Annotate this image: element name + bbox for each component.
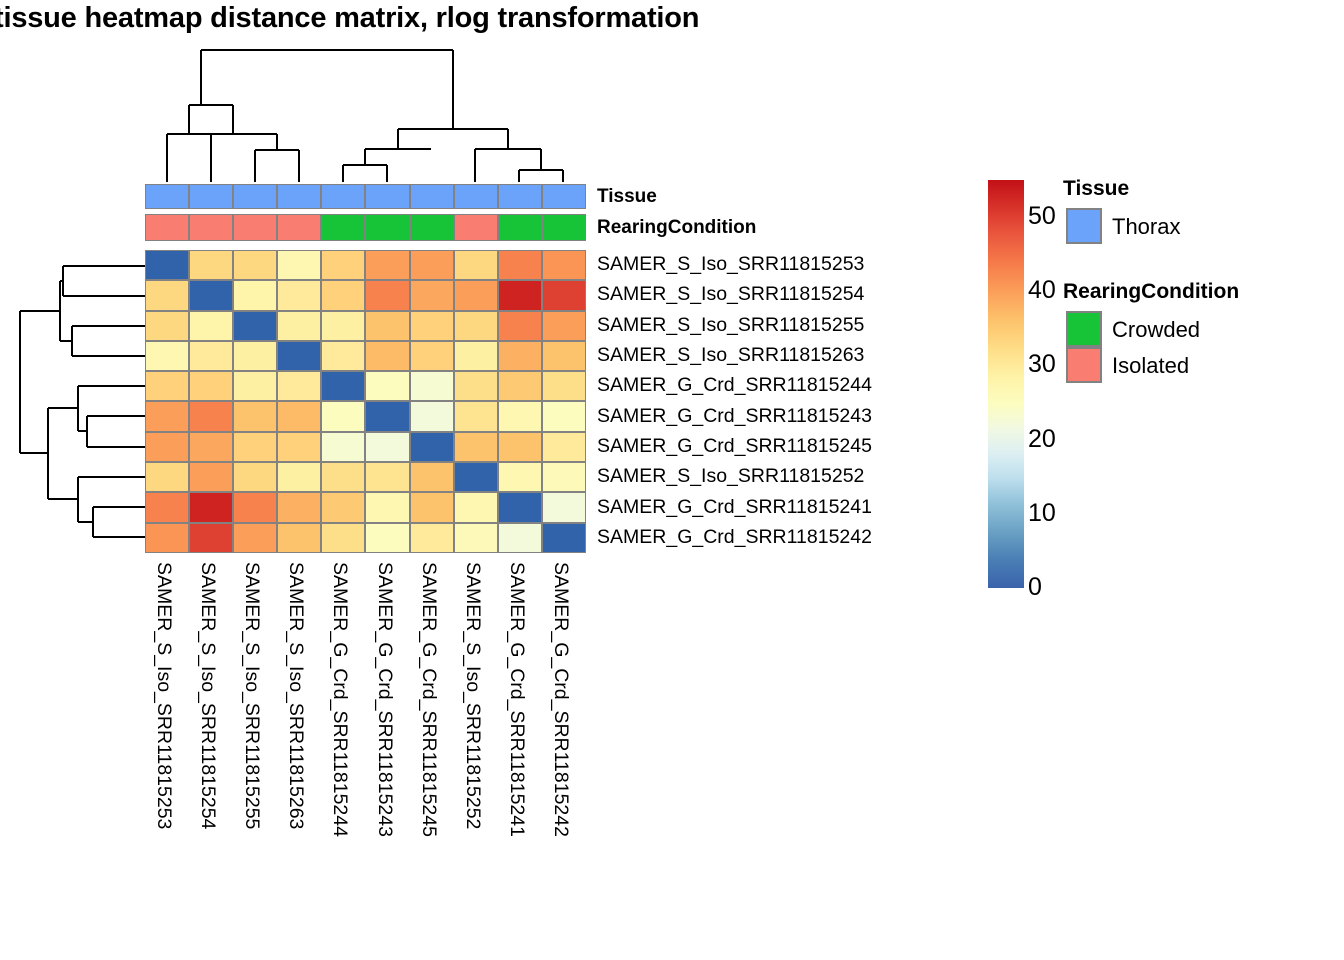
heatmap-cell[interactable] (498, 280, 542, 310)
annotation-cell[interactable] (365, 214, 409, 241)
heatmap-cell[interactable] (410, 462, 454, 492)
heatmap-cell[interactable] (542, 250, 586, 280)
legend-swatch-isolated (1066, 347, 1102, 383)
heatmap-cell[interactable] (321, 371, 365, 401)
heatmap-cell[interactable] (410, 492, 454, 522)
heatmap-cell[interactable] (365, 341, 409, 371)
heatmap-matrix[interactable] (145, 250, 586, 553)
heatmap-cell[interactable] (365, 462, 409, 492)
heatmap-cell[interactable] (410, 280, 454, 310)
heatmap-cell[interactable] (410, 401, 454, 431)
heatmap-cell[interactable] (189, 462, 233, 492)
heatmap-cell[interactable] (233, 401, 277, 431)
heatmap-cell[interactable] (145, 250, 189, 280)
annotation-cell[interactable] (542, 184, 586, 209)
column-label: SAMER_G_Crd_SRR11815244 (328, 562, 351, 837)
heatmap-cell[interactable] (542, 401, 586, 431)
heatmap-cell[interactable] (321, 432, 365, 462)
annotation-cell[interactable] (498, 184, 542, 209)
heatmap-cell[interactable] (365, 432, 409, 462)
heatmap-cell[interactable] (365, 401, 409, 431)
heatmap-cell[interactable] (454, 462, 498, 492)
heatmap-cell[interactable] (233, 311, 277, 341)
heatmap-cell[interactable] (189, 311, 233, 341)
row-label: SAMER_G_Crd_SRR11815243 (597, 407, 872, 427)
annotation-cell[interactable] (410, 214, 454, 241)
heatmap-cell[interactable] (277, 492, 321, 522)
heatmap-cell[interactable] (233, 523, 277, 553)
heatmap-cell[interactable] (189, 250, 233, 280)
colorbar-tick-label: 0 (1028, 575, 1042, 600)
annotation-cell[interactable] (277, 184, 321, 209)
annotation-label-rearingcondition: RearingCondition (597, 217, 756, 239)
heatmap-cell[interactable] (189, 371, 233, 401)
heatmap-cell[interactable] (145, 401, 189, 431)
row-label: SAMER_G_Crd_SRR11815241 (597, 498, 872, 518)
heatmap-cell[interactable] (498, 371, 542, 401)
column-label: SAMER_S_Iso_SRR11815252 (461, 562, 484, 829)
heatmap-cell[interactable] (454, 341, 498, 371)
heatmap-cell[interactable] (542, 280, 586, 310)
legend-label-isolated: Isolated (1112, 355, 1189, 377)
heatmap-cell[interactable] (321, 462, 365, 492)
annotation-cell[interactable] (277, 214, 321, 241)
row-label: SAMER_S_Iso_SRR11815253 (597, 255, 864, 275)
column-label: SAMER_G_Crd_SRR11815242 (549, 562, 572, 837)
heatmap-cell[interactable] (365, 250, 409, 280)
colorbar-tick-label: 40 (1028, 278, 1056, 303)
heatmap-cell[interactable] (410, 523, 454, 553)
row-label: SAMER_S_Iso_SRR11815252 (597, 467, 864, 487)
legend-swatch-crowded (1066, 311, 1102, 347)
heatmap-cell[interactable] (410, 371, 454, 401)
heatmap-cell[interactable] (410, 311, 454, 341)
column-dendrogram (145, 48, 586, 182)
heatmap-cell[interactable] (145, 280, 189, 310)
legend-swatch-thorax (1066, 208, 1102, 244)
colorbar-tick-label: 20 (1028, 427, 1056, 452)
heatmap-cell[interactable] (277, 462, 321, 492)
heatmap-cell[interactable] (542, 311, 586, 341)
heatmap-cell[interactable] (321, 523, 365, 553)
heatmap-cell[interactable] (277, 401, 321, 431)
annotation-label-tissue: Tissue (597, 186, 657, 208)
row-label: SAMER_G_Crd_SRR11815244 (597, 376, 872, 396)
row-label: SAMER_G_Crd_SRR11815242 (597, 528, 872, 548)
column-label: SAMER_S_Iso_SRR11815254 (196, 562, 219, 829)
column-label: SAMER_S_Iso_SRR11815255 (240, 562, 263, 829)
heatmap-cell[interactable] (542, 492, 586, 522)
heatmap-cell[interactable] (189, 432, 233, 462)
heatmap-cell[interactable] (498, 523, 542, 553)
annotation-cell[interactable] (321, 214, 365, 241)
annotation-cell[interactable] (233, 214, 277, 241)
column-label: SAMER_S_Iso_SRR11815253 (152, 562, 175, 829)
heatmap-cell[interactable] (498, 311, 542, 341)
row-label: SAMER_G_Crd_SRR11815245 (597, 437, 872, 457)
annotation-cell[interactable] (410, 184, 454, 209)
heatmap-cell[interactable] (365, 523, 409, 553)
heatmap-cell[interactable] (498, 250, 542, 280)
heatmap-cell[interactable] (233, 492, 277, 522)
heatmap-cell[interactable] (233, 280, 277, 310)
heatmap-cell[interactable] (145, 523, 189, 553)
heatmap-cell[interactable] (277, 280, 321, 310)
annotation-cell[interactable] (321, 184, 365, 209)
annotation-cell[interactable] (189, 214, 233, 241)
heatmap-cell[interactable] (321, 492, 365, 522)
annotation-cell[interactable] (145, 184, 189, 209)
colorbar-tick-label: 10 (1028, 501, 1056, 526)
heatmap-cell[interactable] (321, 341, 365, 371)
heatmap-cell[interactable] (145, 492, 189, 522)
heatmap-cell[interactable] (542, 371, 586, 401)
heatmap-cell[interactable] (365, 371, 409, 401)
heatmap-cell[interactable] (277, 341, 321, 371)
heatmap-cell[interactable] (321, 280, 365, 310)
heatmap-cell[interactable] (145, 341, 189, 371)
heatmap-cell[interactable] (454, 250, 498, 280)
heatmap-cell[interactable] (410, 432, 454, 462)
heatmap-cell[interactable] (233, 250, 277, 280)
colorbar-tick-label: 30 (1028, 352, 1056, 377)
colorbar-tick-label: 50 (1028, 204, 1056, 229)
heatmap-cell[interactable] (454, 280, 498, 310)
row-label: SAMER_S_Iso_SRR11815263 (597, 346, 864, 366)
heatmap-cell[interactable] (498, 492, 542, 522)
heatmap-cell[interactable] (233, 432, 277, 462)
row-label: SAMER_S_Iso_SRR11815255 (597, 316, 864, 336)
heatmap-cell[interactable] (542, 432, 586, 462)
annotation-cell[interactable] (365, 184, 409, 209)
heatmap-cell[interactable] (365, 280, 409, 310)
heatmap-cell[interactable] (189, 280, 233, 310)
heatmap-cell[interactable] (498, 341, 542, 371)
heatmap-cell[interactable] (233, 462, 277, 492)
annotation-cell[interactable] (145, 214, 189, 241)
column-label: SAMER_S_Iso_SRR11815263 (284, 562, 307, 829)
annotation-cell[interactable] (454, 184, 498, 209)
heatmap-cell[interactable] (498, 462, 542, 492)
annotation-cell[interactable] (542, 214, 586, 241)
annotation-cell[interactable] (189, 184, 233, 209)
heatmap-cell[interactable] (277, 432, 321, 462)
legend-title-rearingcondition: RearingCondition (1063, 280, 1239, 304)
heatmap-cell[interactable] (189, 401, 233, 431)
heatmap-cell[interactable] (454, 311, 498, 341)
heatmap-cell[interactable] (233, 341, 277, 371)
heatmap-cell[interactable] (189, 341, 233, 371)
heatmap-cell[interactable] (189, 492, 233, 522)
row-dendrogram (8, 251, 145, 553)
column-label: SAMER_G_Crd_SRR11815241 (505, 562, 528, 837)
heatmap-cell[interactable] (321, 311, 365, 341)
heatmap-cell[interactable] (189, 523, 233, 553)
annotation-bar-rearingcondition (145, 214, 586, 241)
heatmap-cell[interactable] (321, 250, 365, 280)
annotation-bar-tissue (145, 184, 586, 209)
colorbar-gradient (988, 180, 1024, 588)
heatmap-cell[interactable] (145, 311, 189, 341)
heatmap-cell[interactable] (542, 341, 586, 371)
heatmap-cell[interactable] (233, 371, 277, 401)
heatmap-cell[interactable] (145, 432, 189, 462)
heatmap-cell[interactable] (321, 401, 365, 431)
heatmap-cell[interactable] (542, 462, 586, 492)
heatmap-cell[interactable] (277, 523, 321, 553)
heatmap-cell[interactable] (365, 492, 409, 522)
heatmap-cell[interactable] (365, 311, 409, 341)
heatmap-cell[interactable] (277, 371, 321, 401)
heatmap-cell[interactable] (454, 523, 498, 553)
heatmap-cell[interactable] (145, 462, 189, 492)
heatmap-cell[interactable] (454, 401, 498, 431)
heatmap-cell[interactable] (454, 492, 498, 522)
annotation-cell[interactable] (233, 184, 277, 209)
row-label: SAMER_S_Iso_SRR11815254 (597, 285, 864, 305)
heatmap-cell[interactable] (454, 432, 498, 462)
heatmap-cell[interactable] (410, 250, 454, 280)
column-label: SAMER_G_Crd_SRR11815245 (417, 562, 440, 837)
legend-title-tissue: Tissue (1063, 177, 1129, 201)
page-title: tissue heatmap distance matrix, rlog tra… (0, 2, 699, 35)
legend-label-crowded: Crowded (1112, 319, 1200, 341)
annotation-cell[interactable] (454, 214, 498, 241)
annotation-cell[interactable] (498, 214, 542, 241)
heatmap-cell[interactable] (498, 432, 542, 462)
heatmap-cell[interactable] (542, 523, 586, 553)
heatmap-cell[interactable] (454, 371, 498, 401)
heatmap-cell[interactable] (145, 371, 189, 401)
heatmap-cell[interactable] (498, 401, 542, 431)
heatmap-cell[interactable] (277, 250, 321, 280)
heatmap-cell[interactable] (410, 341, 454, 371)
column-label: SAMER_G_Crd_SRR11815243 (373, 562, 396, 837)
legend-label-thorax: Thorax (1112, 216, 1180, 238)
heatmap-cell[interactable] (277, 311, 321, 341)
